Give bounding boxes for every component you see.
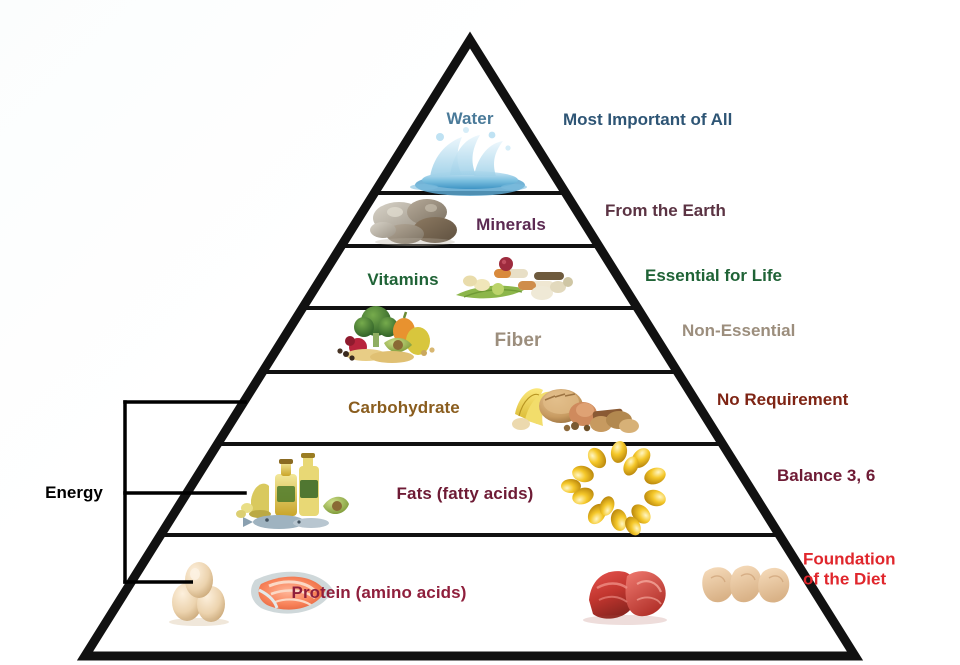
tier-annotation-minerals: From the Earth <box>605 201 726 221</box>
tier-annotation-protein: Foundation of the Diet <box>803 549 896 588</box>
vegetables-fruit-image <box>337 306 434 363</box>
chicken-breast-image <box>702 566 789 603</box>
tier-annotation-fats: Balance 3, 6 <box>777 466 875 486</box>
mineral-rocks-image <box>370 199 457 246</box>
oils-capsules-image <box>236 453 349 529</box>
breads-bananas-image <box>512 388 639 433</box>
tier-label-minerals[interactable]: Minerals <box>476 215 546 235</box>
tier-label-fiber[interactable]: Fiber <box>495 330 542 352</box>
nutrition-pyramid-diagram: WaterMineralsVitaminsFiberCarbohydrateFa… <box>0 0 960 665</box>
tier-label-water[interactable]: Water <box>446 109 493 129</box>
tier-annotation-carbohydrate: No Requirement <box>717 390 848 410</box>
tier-annotation-vitamins: Essential for Life <box>645 266 782 286</box>
tier-label-fats[interactable]: Fats (fatty acids) <box>397 484 534 504</box>
water-splash-image <box>410 127 527 196</box>
tier-annotation-fiber: Non-Essential <box>682 321 795 341</box>
eggs-image <box>169 562 229 626</box>
tier-annotation-water: Most Important of All <box>563 110 732 130</box>
vitamin-capsules-image <box>456 257 573 300</box>
energy-bracket-label: Energy <box>45 483 103 503</box>
fish-oil-capsule-ring-image <box>561 440 668 538</box>
tier-label-carbohydrate[interactable]: Carbohydrate <box>348 398 460 418</box>
tier-label-protein[interactable]: Protein (amino acids) <box>292 583 467 603</box>
beef-cuts-image <box>583 571 667 625</box>
tier-label-vitamins[interactable]: Vitamins <box>367 270 438 290</box>
